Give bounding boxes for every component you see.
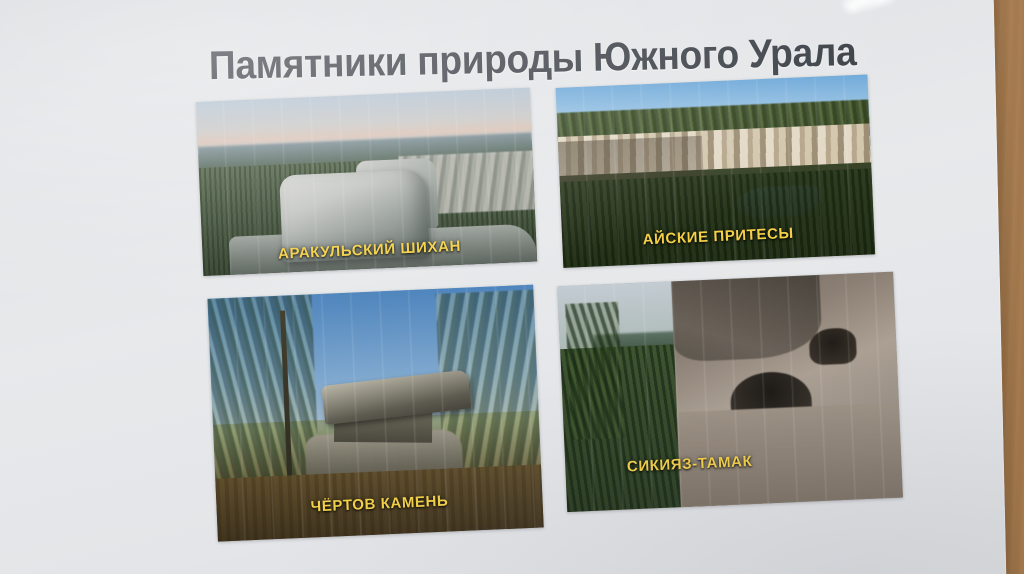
glare-highlight [839,0,898,18]
photo-arakulskiy-shikhan: АРАКУЛЬСКИЙ ШИХАН [196,88,537,276]
foreground-forest [560,168,875,268]
photographed-scene: Памятники природы Южного Урала АРАКУЛЬСК… [0,0,1024,574]
photo-ayskie-pritesy: АЙСКИЕ ПРИТЕСЫ [556,74,876,267]
printed-paper-sheet: Памятники природы Южного Урала АРАКУЛЬСК… [0,0,1007,574]
upper-cave-opening [808,328,857,366]
birch-trees-left [207,294,319,488]
foreground-tree [565,302,625,440]
photo-chyortov-kamen: ЧЁРТОВ КАМЕНЬ [207,285,543,542]
photo-sikiyaz-tamak: СИКИЯЗ-ТАМАК [557,272,903,512]
